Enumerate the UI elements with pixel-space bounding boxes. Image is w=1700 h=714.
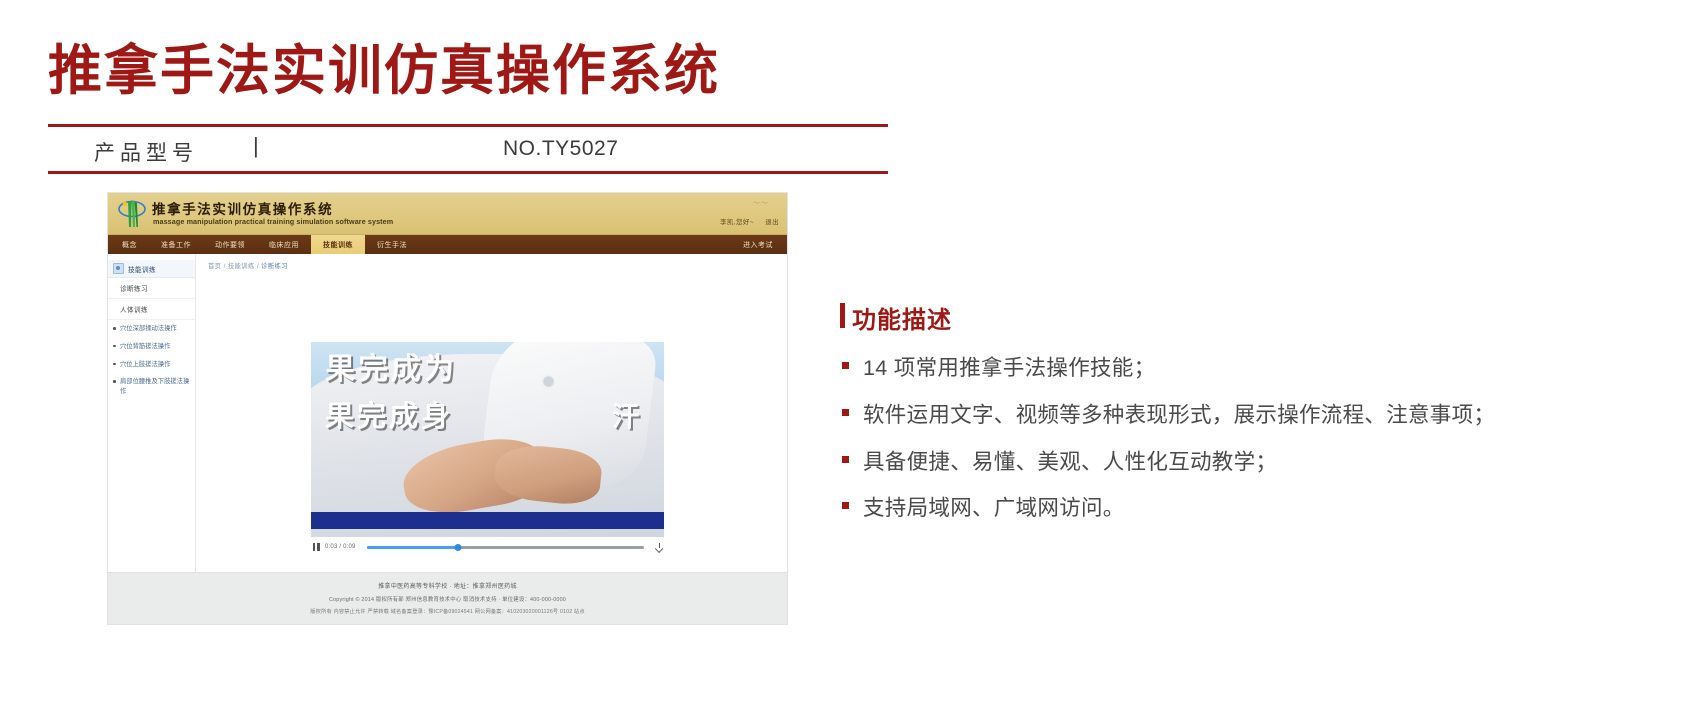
video-frame[interactable]: 果完成为 果完成身 汗 <box>311 342 664 537</box>
sidebar-sub-1[interactable]: 穴位背筋搓法操作 <box>108 338 195 356</box>
nav-item-4[interactable]: 技能训练 <box>311 235 365 254</box>
app-nav: 概念 准备工作 动作要领 临床应用 技能训练 衍生手法 进入考试 <box>108 235 787 254</box>
bullet-square-icon <box>842 502 849 509</box>
list-item: 软件运用文字、视频等多种表现形式，展示操作流程、注意事项； <box>840 398 1540 433</box>
footer-line-3: 版权所有 内容禁止允许 严禁转载 域名备案登录：豫ICP备09024541 网公… <box>108 608 787 615</box>
app-footer: 推拿中医药高等专科学校 · 地址：推拿郑州医药城 Copyright © 201… <box>108 572 787 624</box>
app-brand-en: massage manipulation practical training … <box>153 217 393 226</box>
logout-link[interactable]: 退出 <box>765 219 779 226</box>
nav-item-0[interactable]: 概念 <box>108 235 149 254</box>
model-row: 产品型号 | NO.TY5027 <box>48 127 888 171</box>
feature-description-panel: 功能描述 14 项常用推拿手法操作技能； 软件运用文字、视频等多种表现形式，展示… <box>840 300 1540 538</box>
list-item: 支持局域网、广域网访问。 <box>840 491 1540 526</box>
bullet-square-icon <box>842 409 849 416</box>
page-title: 推拿手法实训仿真操作系统 <box>48 26 720 105</box>
app-brand-cn: 推拿手法实训仿真操作系统 <box>152 198 333 218</box>
nav-item-2[interactable]: 动作要领 <box>203 235 257 254</box>
breadcrumb-level2: 诊断练习 <box>261 263 288 270</box>
model-bar: 产品型号 | NO.TY5027 <box>48 124 888 174</box>
video-progress-knob[interactable] <box>455 544 462 551</box>
sidebar-sub-3[interactable]: 肩部位腰椎及下肢搓法操作 <box>108 373 195 401</box>
pause-icon[interactable] <box>313 543 320 551</box>
bullet-square-icon <box>842 456 849 463</box>
app-sidebar: 技能训练 诊断练习 人体训练 穴位深部揉动法操作 穴位背筋搓法操作 穴位上肢搓法… <box>108 254 196 572</box>
app-body: 技能训练 诊断练习 人体训练 穴位深部揉动法操作 穴位背筋搓法操作 穴位上肢搓法… <box>108 254 787 572</box>
video-caption-right: 汗 <box>612 395 639 434</box>
model-separator: | <box>253 133 259 159</box>
nav-item-5[interactable]: 衍生手法 <box>365 235 419 254</box>
app-screenshot: 推拿手法实训仿真操作系统 massage manipulation practi… <box>108 193 787 624</box>
download-icon[interactable] <box>655 543 664 552</box>
video-time-display: 0:03 / 0:09 <box>325 544 356 550</box>
footer-line-3-text: 版权所有 内容禁止允许 严禁转载 域名备案登录：豫ICP备09024541 网公… <box>310 609 584 615</box>
app-logo-icon <box>117 197 147 230</box>
video-coat-button <box>544 377 553 386</box>
footer-line-1: 推拿中医药高等专科学校 · 地址：推拿郑州医药城 <box>108 581 787 590</box>
bullet-text-0: 14 项常用推拿手法操作技能； <box>863 351 1155 386</box>
header-user-area[interactable]: 李凯,您好~ 退出 <box>711 216 779 226</box>
video-player[interactable]: 果完成为 果完成身 汗 0:03 / 0:09 <box>311 342 664 554</box>
nav-item-1[interactable]: 准备工作 <box>149 235 203 254</box>
training-icon <box>113 263 124 274</box>
bullet-text-1: 软件运用文字、视频等多种表现形式，展示操作流程、注意事项； <box>863 398 1495 433</box>
breadcrumb-level1[interactable]: 技能训练 <box>228 263 255 270</box>
list-item: 具备便捷、易懂、美观、人性化互动教学； <box>840 445 1540 480</box>
video-controls: 0:03 / 0:09 <box>311 537 664 554</box>
video-caption-top: 果完成为 <box>325 344 457 388</box>
bullet-text-3: 支持局域网、广域网访问。 <box>863 491 1125 526</box>
header-decoration: ～～ <box>753 198 769 208</box>
list-item: 14 项常用推拿手法操作技能； <box>840 351 1540 386</box>
sidebar-item-diagnosis[interactable]: 诊断练习 <box>108 278 195 299</box>
video-bottom-strip <box>311 512 664 530</box>
model-value: NO.TY5027 <box>503 137 618 161</box>
user-greeting: 李凯,您好~ <box>720 219 754 226</box>
nav-enter-exam[interactable]: 进入考试 <box>729 235 787 254</box>
video-caption-bottom: 果完成身 <box>325 393 453 435</box>
description-heading: 功能描述 <box>840 300 1540 335</box>
bullet-text-2: 具备便捷、易懂、美观、人性化互动教学； <box>863 445 1277 480</box>
breadcrumb-sep-2: / <box>257 263 259 270</box>
sidebar-item-body-training[interactable]: 人体训练 <box>108 299 195 320</box>
footer-line-2: Copyright © 2014 版权所有部 郑州信息教育技术中心 取消技术支持… <box>108 595 787 603</box>
breadcrumb-home[interactable]: 首页 <box>208 263 221 270</box>
sidebar-header[interactable]: 技能训练 <box>108 260 195 278</box>
app-main: 首页 / 技能训练 / 诊断练习 果完成为 果完成 <box>196 254 787 572</box>
breadcrumb: 首页 / 技能训练 / 诊断练习 <box>196 254 787 270</box>
app-header: 推拿手法实训仿真操作系统 massage manipulation practi… <box>108 193 787 235</box>
sidebar-sub-2[interactable]: 穴位上肢搓法操作 <box>108 356 195 374</box>
sidebar-header-label: 技能训练 <box>128 264 156 274</box>
breadcrumb-sep-1: / <box>224 263 226 270</box>
sidebar-sub-0[interactable]: 穴位深部揉动法操作 <box>108 320 195 338</box>
divider-bottom <box>48 171 888 174</box>
video-progress-fill <box>367 546 459 549</box>
model-label: 产品型号 <box>94 137 198 167</box>
bullet-square-icon <box>842 362 849 369</box>
video-progress-bar[interactable] <box>367 546 644 549</box>
nav-item-3[interactable]: 临床应用 <box>257 235 311 254</box>
